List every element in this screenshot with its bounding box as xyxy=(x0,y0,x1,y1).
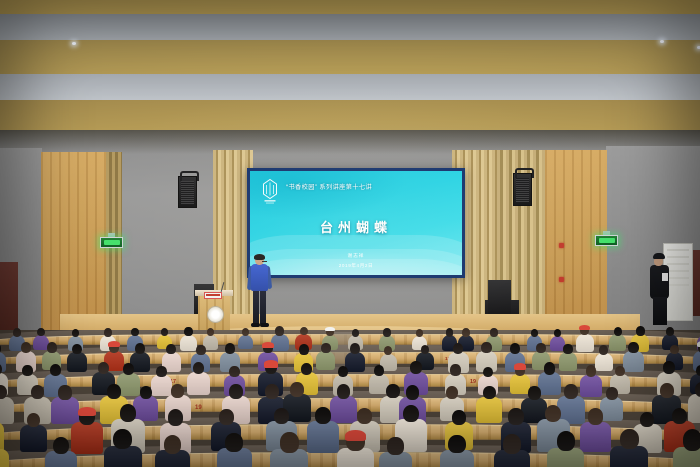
audience-head xyxy=(229,384,243,399)
audience-head xyxy=(660,383,674,398)
audience-head xyxy=(47,342,57,353)
audience-head xyxy=(545,405,562,423)
audience-head xyxy=(663,361,675,374)
audience-torso xyxy=(238,335,253,350)
audience-head xyxy=(421,345,430,354)
audience-head xyxy=(536,343,545,353)
speaker-grille xyxy=(181,181,194,204)
audience-head xyxy=(606,387,618,400)
audience-head xyxy=(13,328,21,337)
audience-head xyxy=(446,386,458,399)
speaker-grille xyxy=(516,178,529,202)
audience-member xyxy=(559,344,577,372)
audience xyxy=(0,300,700,467)
audience-member xyxy=(494,434,530,467)
audience-head xyxy=(350,343,360,354)
audience-head xyxy=(448,435,465,454)
audience-member xyxy=(307,407,339,456)
audience-member xyxy=(440,435,475,467)
audience-head xyxy=(508,408,523,425)
audience-head xyxy=(462,328,470,337)
audience-head xyxy=(544,362,555,374)
audience-head xyxy=(683,429,700,450)
audience-torso xyxy=(576,334,594,352)
lecturer-torso xyxy=(251,264,268,291)
staff-torso xyxy=(650,265,669,299)
audience-head xyxy=(113,429,132,449)
audience-head xyxy=(321,343,330,353)
audience-member xyxy=(238,328,253,351)
audience-head xyxy=(300,327,308,336)
audience-head xyxy=(166,344,176,354)
audience-head xyxy=(164,435,182,454)
audience-head xyxy=(184,327,192,336)
university-emblem-logo-icon xyxy=(259,178,281,204)
audience-member xyxy=(610,429,648,467)
audience-head xyxy=(452,410,466,425)
audience-torso xyxy=(67,352,87,372)
audience-head xyxy=(337,384,350,399)
audience-cap xyxy=(78,407,96,416)
audience-member xyxy=(476,386,502,425)
audience-head xyxy=(225,433,243,452)
audience-cap xyxy=(264,360,278,367)
audience-head xyxy=(640,412,654,428)
audience-head xyxy=(554,329,562,337)
audience-head xyxy=(695,382,700,397)
speaker-mount-yoke xyxy=(180,171,199,181)
audience-head xyxy=(290,382,304,397)
audience-member xyxy=(576,326,594,353)
audience-member xyxy=(337,431,375,467)
audience-head xyxy=(140,386,152,399)
audience-head xyxy=(588,408,603,424)
audience-member xyxy=(67,344,87,374)
ceiling-downlight-icon xyxy=(660,40,664,43)
audience-member xyxy=(155,435,190,467)
audience-head xyxy=(274,408,289,424)
audience-head xyxy=(357,408,372,424)
audience-torso xyxy=(0,449,9,467)
audience-head xyxy=(193,362,205,375)
audience-head xyxy=(338,366,348,377)
audience-head xyxy=(58,385,72,400)
audience-head xyxy=(666,327,674,336)
audience-head xyxy=(265,384,279,399)
audience-head xyxy=(31,385,44,399)
audience-head xyxy=(563,344,572,354)
audience-head xyxy=(620,429,639,449)
audience-head xyxy=(156,366,166,377)
audience-head xyxy=(131,328,139,336)
audience-head xyxy=(490,328,498,336)
audience-torso xyxy=(20,425,47,452)
audience-head xyxy=(275,326,284,335)
audience-head xyxy=(104,328,112,336)
projection-screen-frame: “书香校园” 系列讲座第十七讲 台州蝴蝶 谢志祥 2019年4月2日 xyxy=(247,168,465,278)
audience-head xyxy=(672,408,687,425)
audience-member xyxy=(270,432,308,467)
audience-head xyxy=(636,326,645,336)
audience-torso xyxy=(476,397,502,423)
audience-head xyxy=(483,386,496,400)
exit-sign-icon xyxy=(100,237,123,248)
lecturer-hair xyxy=(254,254,265,260)
fire-alarm-icon xyxy=(559,243,564,248)
audience-head xyxy=(446,328,454,336)
staff-cap xyxy=(653,253,665,259)
audience-torso xyxy=(104,446,142,467)
audience-head xyxy=(168,409,184,426)
slide-speaker-name: 谢志祥 xyxy=(250,253,462,259)
audience-torso xyxy=(580,422,610,452)
right-exit-sign xyxy=(595,231,618,246)
audience-member xyxy=(45,437,77,467)
audience-member xyxy=(547,431,584,467)
audience-head xyxy=(510,343,520,354)
audience-head xyxy=(161,328,168,336)
audience-head xyxy=(72,344,82,355)
audience-head xyxy=(503,434,521,453)
audience-head xyxy=(481,342,491,353)
audience-head xyxy=(21,342,31,353)
audience-head xyxy=(564,384,578,399)
exit-sign-icon xyxy=(595,235,618,246)
audience-head xyxy=(416,329,423,337)
audience-head xyxy=(229,366,239,377)
audience-head xyxy=(483,367,493,378)
audience-head xyxy=(696,365,700,376)
audience-member xyxy=(379,437,411,467)
audience-head xyxy=(531,329,539,337)
audience-head xyxy=(120,404,137,422)
audience-torso xyxy=(559,352,577,370)
audience-head xyxy=(387,437,403,454)
audience-head xyxy=(406,385,420,400)
audience-cap xyxy=(345,430,366,441)
audience-member xyxy=(104,429,142,467)
audience-head xyxy=(301,363,312,375)
audience-head xyxy=(107,384,121,399)
audience-member xyxy=(217,433,252,467)
slide-date: 2019年4月2日 xyxy=(250,263,462,269)
audience-cap xyxy=(579,325,590,330)
right-wall-loudspeaker xyxy=(513,173,532,206)
left-wall-loudspeaker xyxy=(178,176,197,208)
audience-head xyxy=(196,345,205,355)
audience-head xyxy=(599,345,608,355)
audience-member xyxy=(673,429,700,467)
slide-main-title: 台州蝴蝶 xyxy=(250,217,462,236)
slide-header-text: “书香校园” 系列讲座第十七讲 xyxy=(286,182,372,191)
left-exit-sign xyxy=(100,233,123,248)
audience-head xyxy=(299,344,309,355)
audience-cap xyxy=(262,342,274,348)
audience-cap xyxy=(325,327,335,332)
audience-head xyxy=(410,361,422,374)
audience-head xyxy=(123,363,134,375)
audience-head xyxy=(207,328,215,336)
audience-head xyxy=(352,329,359,337)
audience-head xyxy=(171,384,184,398)
audience-head xyxy=(135,343,145,354)
audience-head xyxy=(50,364,61,376)
audience-head xyxy=(280,432,299,452)
audience-member xyxy=(0,433,9,467)
audience-head xyxy=(53,437,69,454)
audience-head xyxy=(614,327,622,336)
fire-alarm-icon xyxy=(559,277,564,282)
audience-member xyxy=(20,413,47,455)
audience-head xyxy=(98,362,109,374)
auditorium-photo: “书香校园” 系列讲座第十七讲 台州蝴蝶 谢志祥 2019年4月2日 xyxy=(0,0,700,467)
audience-head xyxy=(37,328,45,337)
audience-head xyxy=(27,413,41,428)
audience-head xyxy=(615,366,625,377)
audience-head xyxy=(219,409,234,425)
audience-head xyxy=(383,328,391,336)
audience-head xyxy=(315,407,331,424)
lectern-sign xyxy=(204,292,222,299)
audience-head xyxy=(557,431,575,451)
audience-member xyxy=(580,408,610,455)
audience-cap xyxy=(108,341,120,347)
speaker-mount-yoke xyxy=(515,168,534,178)
audience-head xyxy=(528,386,541,400)
auditorium-ceiling xyxy=(0,0,700,150)
audience-head xyxy=(628,342,638,353)
audience-head xyxy=(586,365,597,377)
audience-head xyxy=(374,365,384,376)
audience-head xyxy=(670,345,679,354)
projection-screen: “书香校园” 系列讲座第十七讲 台州蝴蝶 谢志祥 2019年4月2日 xyxy=(250,171,462,275)
ceiling-downlight-icon xyxy=(72,42,76,45)
lapel-microphone-icon xyxy=(262,261,267,262)
audience-cap xyxy=(514,363,526,369)
audience-head xyxy=(403,405,419,423)
staff-held-item xyxy=(662,273,668,281)
audience-torso xyxy=(307,421,339,453)
audience-head xyxy=(225,343,235,354)
audience-head xyxy=(450,364,461,375)
audience-head xyxy=(22,365,32,376)
